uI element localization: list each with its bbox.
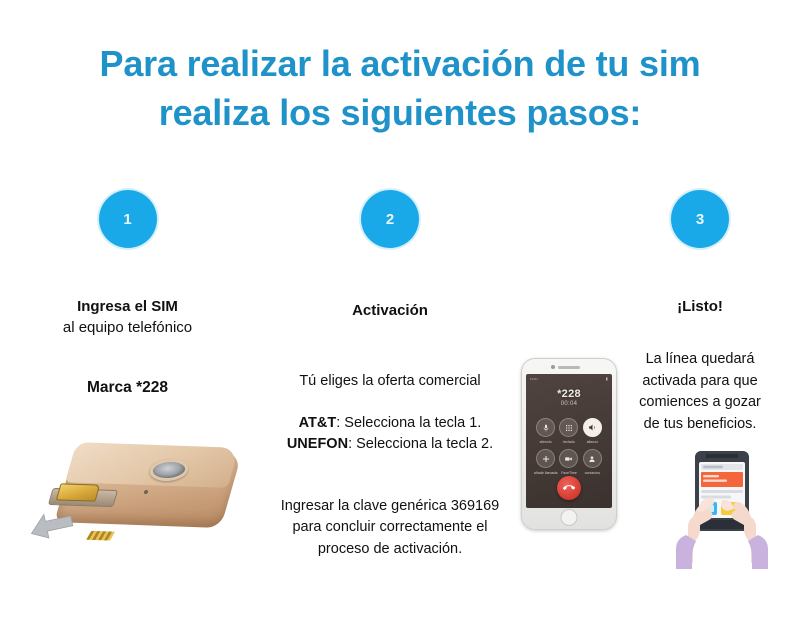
step-column-1: 1 Ingresa el SIM al equipo telefónico Ma… (10, 190, 245, 397)
step-3-body-line-2: activada para que (600, 371, 800, 392)
sim-chip-icon (86, 531, 115, 541)
infographic-root: Para realizar la activación de tu sim re… (0, 0, 800, 640)
call-controls-grid: silencio teclado altavoz (534, 418, 604, 468)
step-2-closing-line-1: Ingresar la clave genérica 369169 (255, 496, 525, 517)
earpiece-speaker-shape (558, 366, 580, 369)
carrier-instructions: AT&T: Selecciona la tecla 1. UNEFON: Sel… (255, 413, 525, 456)
carrier-name-unefon: UNEFON (287, 436, 348, 452)
step-3-heading: ¡Listo! (600, 296, 800, 317)
hands-phone-graphic (648, 445, 798, 570)
content-line-1 (701, 490, 743, 493)
step-1-heading: Ingresa el SIM (10, 296, 245, 317)
plus-icon[interactable]: añadir llamada (536, 449, 555, 468)
carrier-signal-status: ••••• (530, 376, 538, 381)
step-1-action: Marca *228 (10, 379, 245, 397)
contacts-label: contactos (585, 471, 600, 475)
banner-line-2 (703, 480, 727, 482)
video-camera-icon[interactable]: FaceTime (559, 449, 578, 468)
speaker-label: altavoz (587, 440, 598, 444)
home-button[interactable] (561, 509, 578, 526)
page-title: Para realizar la activación de tu sim re… (0, 40, 800, 137)
step-2-heading: Activación (255, 300, 525, 321)
speaker-glyph (588, 423, 597, 432)
carrier-instruction-att: : Selecciona la tecla 1. (336, 415, 481, 431)
end-call-button[interactable] (557, 476, 581, 500)
contacts-glyph (588, 455, 596, 463)
microphone-glyph (542, 424, 550, 432)
keypad-label: teclado (563, 440, 575, 444)
microphone-icon[interactable]: silencio (536, 418, 555, 437)
banner-line-1 (703, 475, 719, 477)
step-2-closing: Ingresar la clave genérica 369169 para c… (255, 496, 525, 560)
keypad-icon[interactable]: teclado (559, 418, 578, 437)
phone-earpiece-shape (706, 454, 738, 458)
step-badge-2: 2 (361, 190, 419, 248)
phone-sim-tray-illustration (22, 443, 237, 553)
step-number-2: 2 (386, 211, 394, 228)
insert-arrow-icon (28, 509, 76, 539)
screen-search-bar (703, 466, 723, 469)
carrier-row-unefon: UNEFON: Selecciona la tecla 2. (255, 434, 525, 455)
contacts-icon[interactable]: contactos (583, 449, 602, 468)
carrier-instruction-unefon: : Selecciona la tecla 2. (348, 436, 493, 452)
sim-card-shape (56, 483, 100, 501)
step-3-body-line-4: de tus beneficios. (600, 414, 800, 435)
step-2-closing-line-2: para concluir correctamente el (255, 517, 525, 538)
step-column-2: 2 Activación Tú eliges la oferta comerci… (255, 190, 525, 560)
keypad-glyph (565, 424, 573, 432)
step-badge-3: 3 (671, 190, 729, 248)
step-3-body-line-3: comiences a gozar (600, 392, 800, 413)
end-call-icon (563, 482, 575, 494)
front-camera-icon (551, 365, 555, 369)
carrier-row-att: AT&T: Selecciona la tecla 1. (255, 413, 525, 434)
add-call-label: añadir llamada (534, 471, 558, 475)
content-line-2 (701, 496, 731, 499)
hands-holding-phone-illustration (648, 445, 798, 570)
step-1-subheading: al equipo telefónico (10, 317, 245, 338)
title-line-2: realiza los siguientes pasos: (0, 89, 800, 138)
step-3-body: La línea quedará activada para que comie… (600, 349, 800, 435)
step-2-closing-line-3: proceso de activación. (255, 539, 525, 560)
step-number-1: 1 (123, 211, 131, 228)
carrier-name-att: AT&T (299, 415, 337, 431)
step-3-body-line-1: La línea quedará (600, 349, 800, 370)
step-number-3: 3 (696, 211, 704, 228)
microphone-label: silencio (540, 440, 552, 444)
step-2-intro: Tú eliges la oferta comercial (255, 371, 525, 392)
facetime-label: FaceTime (561, 471, 577, 475)
step-column-3: 3 ¡Listo! La línea quedará activada para… (600, 190, 800, 435)
title-line-1: Para realizar la activación de tu sim (100, 43, 701, 84)
speaker-icon[interactable]: altavoz (583, 418, 602, 437)
plus-glyph (542, 455, 550, 463)
step-badge-1: 1 (99, 190, 157, 248)
video-camera-glyph (564, 455, 573, 463)
